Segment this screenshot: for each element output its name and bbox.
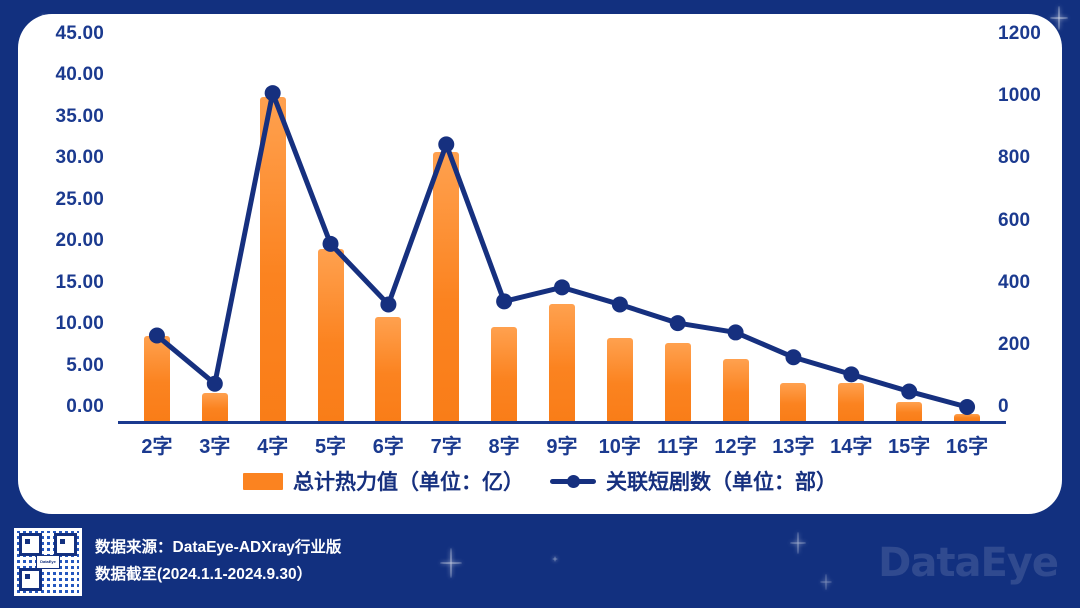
y-axis-left-tick: 5.00 [26, 355, 104, 377]
y-axis-right-tick: 0 [998, 396, 1076, 418]
y-axis-left-tick: 25.00 [26, 189, 104, 211]
x-axis-label: 13字 [764, 430, 822, 459]
y-axis-left-tick: 10.00 [26, 313, 104, 335]
y-axis-left-tick: 0.00 [26, 396, 104, 418]
x-axis-label: 14字 [822, 430, 880, 459]
line-marker-icon [550, 472, 596, 490]
line-marker[interactable]: 3字: 120 [207, 376, 223, 392]
y-axis-right-tick: 800 [998, 147, 1076, 169]
line-marker[interactable]: 7字: 890 [438, 136, 454, 152]
legend-item-bar[interactable]: 总计热力值（单位：亿） [243, 466, 524, 496]
x-axis-label: 10字 [591, 430, 649, 459]
data-date-line: 数据截至(2024.1.1-2024.9.30） [95, 561, 341, 588]
x-axis-label: 2字 [128, 430, 186, 459]
x-axis-label: 7字 [417, 430, 475, 459]
y-axis-left-tick: 40.00 [26, 64, 104, 86]
legend-label-bar: 总计热力值（单位：亿） [293, 466, 524, 496]
x-axis-labels: 2字3字4字5字6字7字8字9字10字11字12字13字14字15字16字 [128, 430, 996, 459]
line-marker[interactable]: 2字: 275 [149, 328, 165, 344]
chart-card: 0.005.0010.0015.0020.0025.0030.0035.0040… [18, 14, 1062, 514]
x-axis-baseline [118, 421, 1006, 424]
line-marker[interactable]: 15字: 95 [901, 383, 917, 399]
y-axis-left-tick: 30.00 [26, 147, 104, 169]
qr-code-icon[interactable]: DataEye [14, 528, 82, 596]
x-axis-label: 4字 [244, 430, 302, 459]
y-axis-right-tick: 1200 [998, 23, 1076, 45]
y-axis-right: 020040060080010001200 [998, 34, 1076, 407]
brand-watermark: DataEye [878, 540, 1058, 586]
y-axis-left-tick: 35.00 [26, 106, 104, 128]
x-axis-label: 11字 [649, 430, 707, 459]
bar-swatch-icon [243, 473, 283, 490]
x-axis-label: 6字 [359, 430, 417, 459]
line-marker[interactable]: 10字: 375 [612, 296, 628, 312]
line-marker[interactable]: 6字: 375 [380, 296, 396, 312]
y-axis-right-tick: 200 [998, 334, 1076, 356]
legend-item-line[interactable]: 关联短剧数（单位：部） [550, 466, 837, 496]
chart-legend: 总计热力值（单位：亿） 关联短剧数（单位：部） [18, 466, 1062, 496]
legend-label-line: 关联短剧数（单位：部） [606, 466, 837, 496]
line-marker[interactable]: 14字: 150 [843, 366, 859, 382]
y-axis-left-tick: 45.00 [26, 23, 104, 45]
data-source-line: 数据来源：DataEye-ADXray行业版 [95, 534, 341, 561]
footer: DataEye 数据来源：DataEye-ADXray行业版 数据截至(2024… [0, 518, 1080, 608]
x-axis-label: 15字 [880, 430, 938, 459]
y-axis-left-tick: 20.00 [26, 230, 104, 252]
line-marker[interactable]: 12字: 285 [728, 324, 744, 340]
line-marker[interactable]: 4字: 1055 [265, 85, 281, 101]
line-series: 2字: 2753字: 1204字: 10555字: 5706字: 3757字: … [128, 48, 996, 421]
line-path [157, 93, 967, 407]
y-axis-right-tick: 600 [998, 210, 1076, 232]
qr-center-label: DataEye [36, 555, 60, 569]
line-marker[interactable]: 8字: 385 [496, 293, 512, 309]
y-axis-right-tick: 1000 [998, 85, 1076, 107]
line-marker[interactable]: 5字: 570 [323, 236, 339, 252]
y-axis-left-tick: 15.00 [26, 272, 104, 294]
footer-text: 数据来源：DataEye-ADXray行业版 数据截至(2024.1.1-202… [95, 534, 341, 588]
x-axis-label: 8字 [475, 430, 533, 459]
y-axis-right-tick: 400 [998, 272, 1076, 294]
x-axis-label: 12字 [707, 430, 765, 459]
x-axis-label: 5字 [302, 430, 360, 459]
x-axis-label: 3字 [186, 430, 244, 459]
x-axis-label: 9字 [533, 430, 591, 459]
line-marker[interactable]: 16字: 45 [959, 399, 975, 415]
y-axis-left: 0.005.0010.0015.0020.0025.0030.0035.0040… [26, 34, 104, 407]
line-marker[interactable]: 11字: 315 [670, 315, 686, 331]
line-marker[interactable]: 9字: 430 [554, 279, 570, 295]
line-marker[interactable]: 13字: 205 [785, 349, 801, 365]
x-axis-label: 16字 [938, 430, 996, 459]
